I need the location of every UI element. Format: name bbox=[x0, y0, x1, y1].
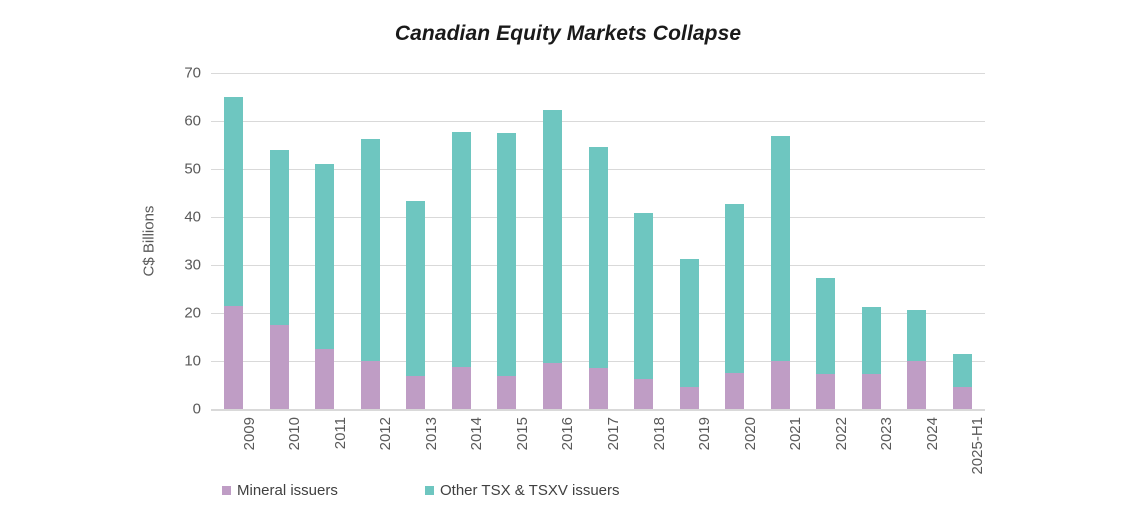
x-axis-tick-label: 2013 bbox=[423, 417, 440, 450]
bar-segment-mineral-issuers[interactable] bbox=[816, 374, 835, 409]
bar-segment-other-tsx-tsxv-issuers[interactable] bbox=[361, 139, 380, 361]
bar-column[interactable] bbox=[862, 73, 881, 409]
x-axis-tick-label: 2019 bbox=[696, 417, 713, 450]
x-axis-tick-label: 2022 bbox=[833, 417, 850, 450]
legend-item[interactable]: Other TSX & TSXV issuers bbox=[425, 482, 620, 499]
bar-column[interactable] bbox=[543, 73, 562, 409]
legend-item[interactable]: Mineral issuers bbox=[222, 482, 338, 499]
plot-area bbox=[211, 73, 985, 409]
bar-segment-other-tsx-tsxv-issuers[interactable] bbox=[406, 201, 425, 376]
bar-segment-mineral-issuers[interactable] bbox=[406, 376, 425, 409]
bar-column[interactable] bbox=[771, 73, 790, 409]
bar-segment-mineral-issuers[interactable] bbox=[543, 363, 562, 409]
x-axis-tick-label: 2017 bbox=[605, 417, 622, 450]
bar-column[interactable] bbox=[680, 73, 699, 409]
bar-segment-other-tsx-tsxv-issuers[interactable] bbox=[862, 307, 881, 374]
bar-segment-other-tsx-tsxv-issuers[interactable] bbox=[497, 133, 516, 376]
x-axis-tick-label: 2023 bbox=[878, 417, 895, 450]
bar-column[interactable] bbox=[361, 73, 380, 409]
x-axis-tick-label: 2021 bbox=[787, 417, 804, 450]
bar-column[interactable] bbox=[589, 73, 608, 409]
bar-segment-other-tsx-tsxv-issuers[interactable] bbox=[907, 310, 926, 361]
bar-column[interactable] bbox=[816, 73, 835, 409]
y-axis-tick-label: 0 bbox=[141, 401, 201, 418]
bar-segment-other-tsx-tsxv-issuers[interactable] bbox=[771, 136, 790, 361]
bar-segment-other-tsx-tsxv-issuers[interactable] bbox=[224, 97, 243, 306]
bar-segment-mineral-issuers[interactable] bbox=[315, 349, 334, 409]
y-axis-tick-label: 20 bbox=[141, 305, 201, 322]
bar-column[interactable] bbox=[953, 73, 972, 409]
bar-segment-other-tsx-tsxv-issuers[interactable] bbox=[816, 278, 835, 374]
x-axis-tick-label: 2016 bbox=[559, 417, 576, 450]
bar-segment-mineral-issuers[interactable] bbox=[634, 379, 653, 409]
bar-segment-mineral-issuers[interactable] bbox=[862, 374, 881, 409]
x-axis-tick-label: 2015 bbox=[514, 417, 531, 450]
bar-column[interactable] bbox=[634, 73, 653, 409]
x-axis-tick-label: 2010 bbox=[286, 417, 303, 450]
y-axis-tick-label: 60 bbox=[141, 113, 201, 130]
bar-column[interactable] bbox=[270, 73, 289, 409]
bar-column[interactable] bbox=[224, 73, 243, 409]
bar-segment-mineral-issuers[interactable] bbox=[224, 306, 243, 409]
bar-column[interactable] bbox=[452, 73, 471, 409]
bar-segment-other-tsx-tsxv-issuers[interactable] bbox=[725, 204, 744, 373]
bar-segment-other-tsx-tsxv-issuers[interactable] bbox=[543, 110, 562, 363]
bar-column[interactable] bbox=[907, 73, 926, 409]
x-axis-tick-label: 2018 bbox=[651, 417, 668, 450]
bar-column[interactable] bbox=[315, 73, 334, 409]
bar-segment-mineral-issuers[interactable] bbox=[452, 367, 471, 409]
x-axis-tick-label: 2024 bbox=[924, 417, 941, 450]
y-axis-tick-label: 30 bbox=[141, 257, 201, 274]
y-axis-tick-label: 50 bbox=[141, 161, 201, 178]
bar-segment-other-tsx-tsxv-issuers[interactable] bbox=[589, 147, 608, 368]
x-axis-tick-label: 2020 bbox=[742, 417, 759, 450]
bar-segment-mineral-issuers[interactable] bbox=[907, 361, 926, 409]
chart-canvas: Canadian Equity Markets Collapse C$ Bill… bbox=[0, 0, 1136, 512]
bar-segment-other-tsx-tsxv-issuers[interactable] bbox=[315, 164, 334, 349]
bar-segment-mineral-issuers[interactable] bbox=[589, 368, 608, 409]
bar-column[interactable] bbox=[406, 73, 425, 409]
bar-segment-other-tsx-tsxv-issuers[interactable] bbox=[634, 213, 653, 379]
bar-segment-mineral-issuers[interactable] bbox=[270, 325, 289, 409]
x-axis-tick-label: 2011 bbox=[332, 417, 349, 449]
bar-segment-other-tsx-tsxv-issuers[interactable] bbox=[270, 150, 289, 325]
bar-segment-mineral-issuers[interactable] bbox=[680, 387, 699, 409]
x-axis-tick-label: 2012 bbox=[377, 417, 394, 450]
x-axis-tick-label: 2025-H1 bbox=[969, 417, 986, 475]
bar-column[interactable] bbox=[497, 73, 516, 409]
y-axis-tick-label: 70 bbox=[141, 65, 201, 82]
x-axis-tick-label: 2014 bbox=[468, 417, 485, 450]
x-axis-line bbox=[211, 409, 985, 411]
bar-column[interactable] bbox=[725, 73, 744, 409]
chart-legend: Mineral issuersOther TSX & TSXV issuers bbox=[0, 478, 1136, 504]
legend-swatch-icon bbox=[222, 486, 231, 495]
legend-label: Mineral issuers bbox=[237, 482, 338, 499]
bar-segment-mineral-issuers[interactable] bbox=[497, 376, 516, 409]
y-axis-tick-label: 10 bbox=[141, 353, 201, 370]
x-axis-tick-label: 2009 bbox=[241, 417, 258, 450]
bar-segment-mineral-issuers[interactable] bbox=[725, 373, 744, 409]
bar-segment-other-tsx-tsxv-issuers[interactable] bbox=[953, 354, 972, 387]
bar-segment-mineral-issuers[interactable] bbox=[771, 361, 790, 409]
chart-title: Canadian Equity Markets Collapse bbox=[0, 22, 1136, 46]
legend-label: Other TSX & TSXV issuers bbox=[440, 482, 620, 499]
legend-swatch-icon bbox=[425, 486, 434, 495]
bar-segment-other-tsx-tsxv-issuers[interactable] bbox=[452, 132, 471, 368]
bar-segment-mineral-issuers[interactable] bbox=[953, 387, 972, 409]
bar-segment-other-tsx-tsxv-issuers[interactable] bbox=[680, 259, 699, 387]
bar-segment-mineral-issuers[interactable] bbox=[361, 361, 380, 409]
y-axis-tick-label: 40 bbox=[141, 209, 201, 226]
